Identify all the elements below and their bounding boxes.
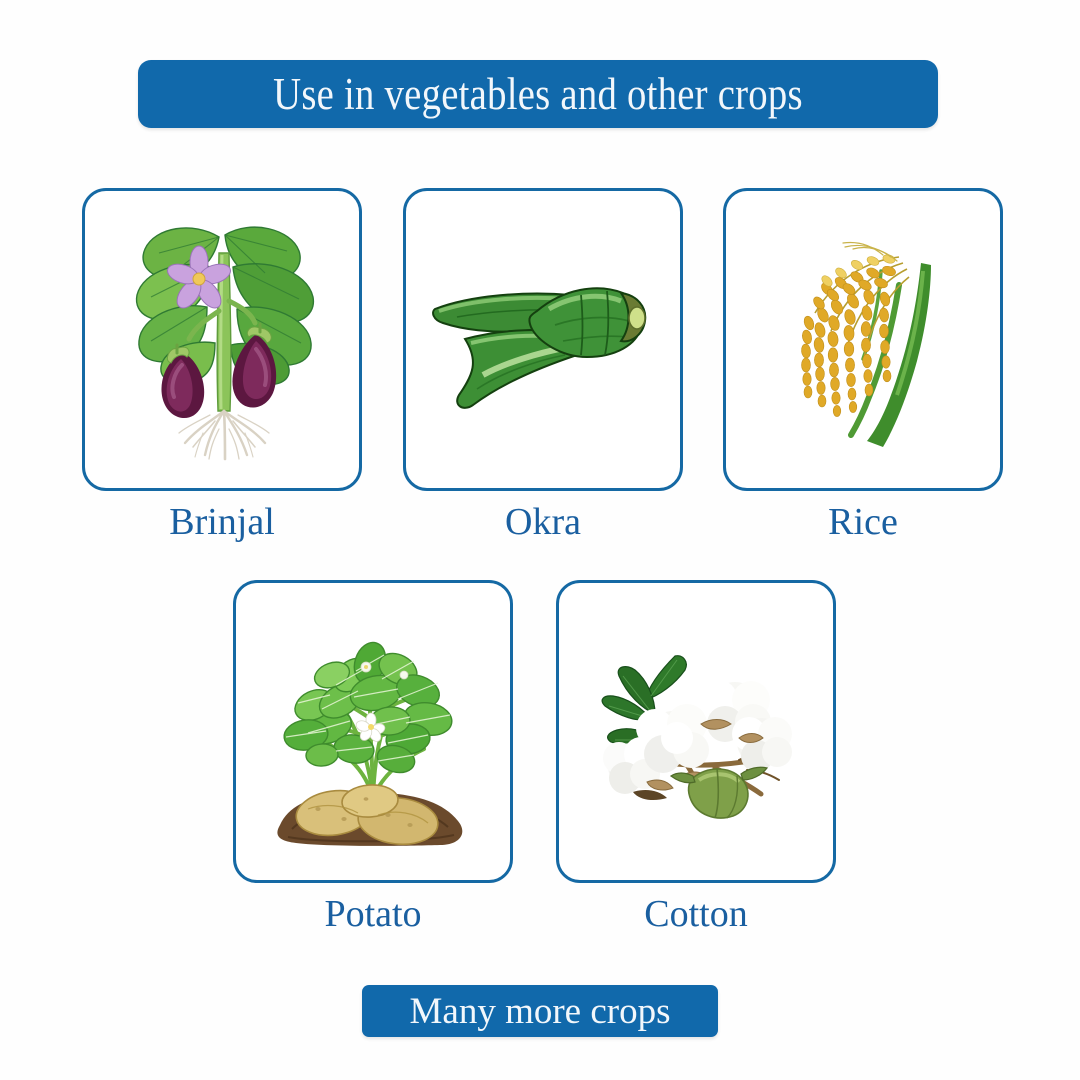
page-title: Use in vegetables and other crops [273, 72, 803, 117]
crop-card-okra[interactable] [403, 188, 683, 491]
crop-card-rice[interactable] [723, 188, 1003, 491]
crop-label-rice: Rice [723, 503, 1003, 541]
potato-plant-icon [258, 609, 488, 854]
header-badge: Use in vegetables and other crops [138, 60, 938, 128]
brinjal-plant-icon [115, 215, 330, 465]
footer-text: Many more crops [410, 993, 671, 1030]
crop-card-potato[interactable] [233, 580, 513, 883]
crop-label-okra: Okra [403, 503, 683, 541]
okra-pods-icon [431, 265, 656, 415]
crop-card-brinjal[interactable] [82, 188, 362, 491]
cotton-bolls-icon [589, 642, 804, 822]
crop-label-cotton: Cotton [556, 895, 836, 933]
crop-label-brinjal: Brinjal [82, 503, 362, 541]
crop-card-cotton[interactable] [556, 580, 836, 883]
rice-panicle-icon [771, 227, 956, 452]
crop-label-potato: Potato [233, 895, 513, 933]
footer-badge: Many more crops [362, 985, 718, 1037]
